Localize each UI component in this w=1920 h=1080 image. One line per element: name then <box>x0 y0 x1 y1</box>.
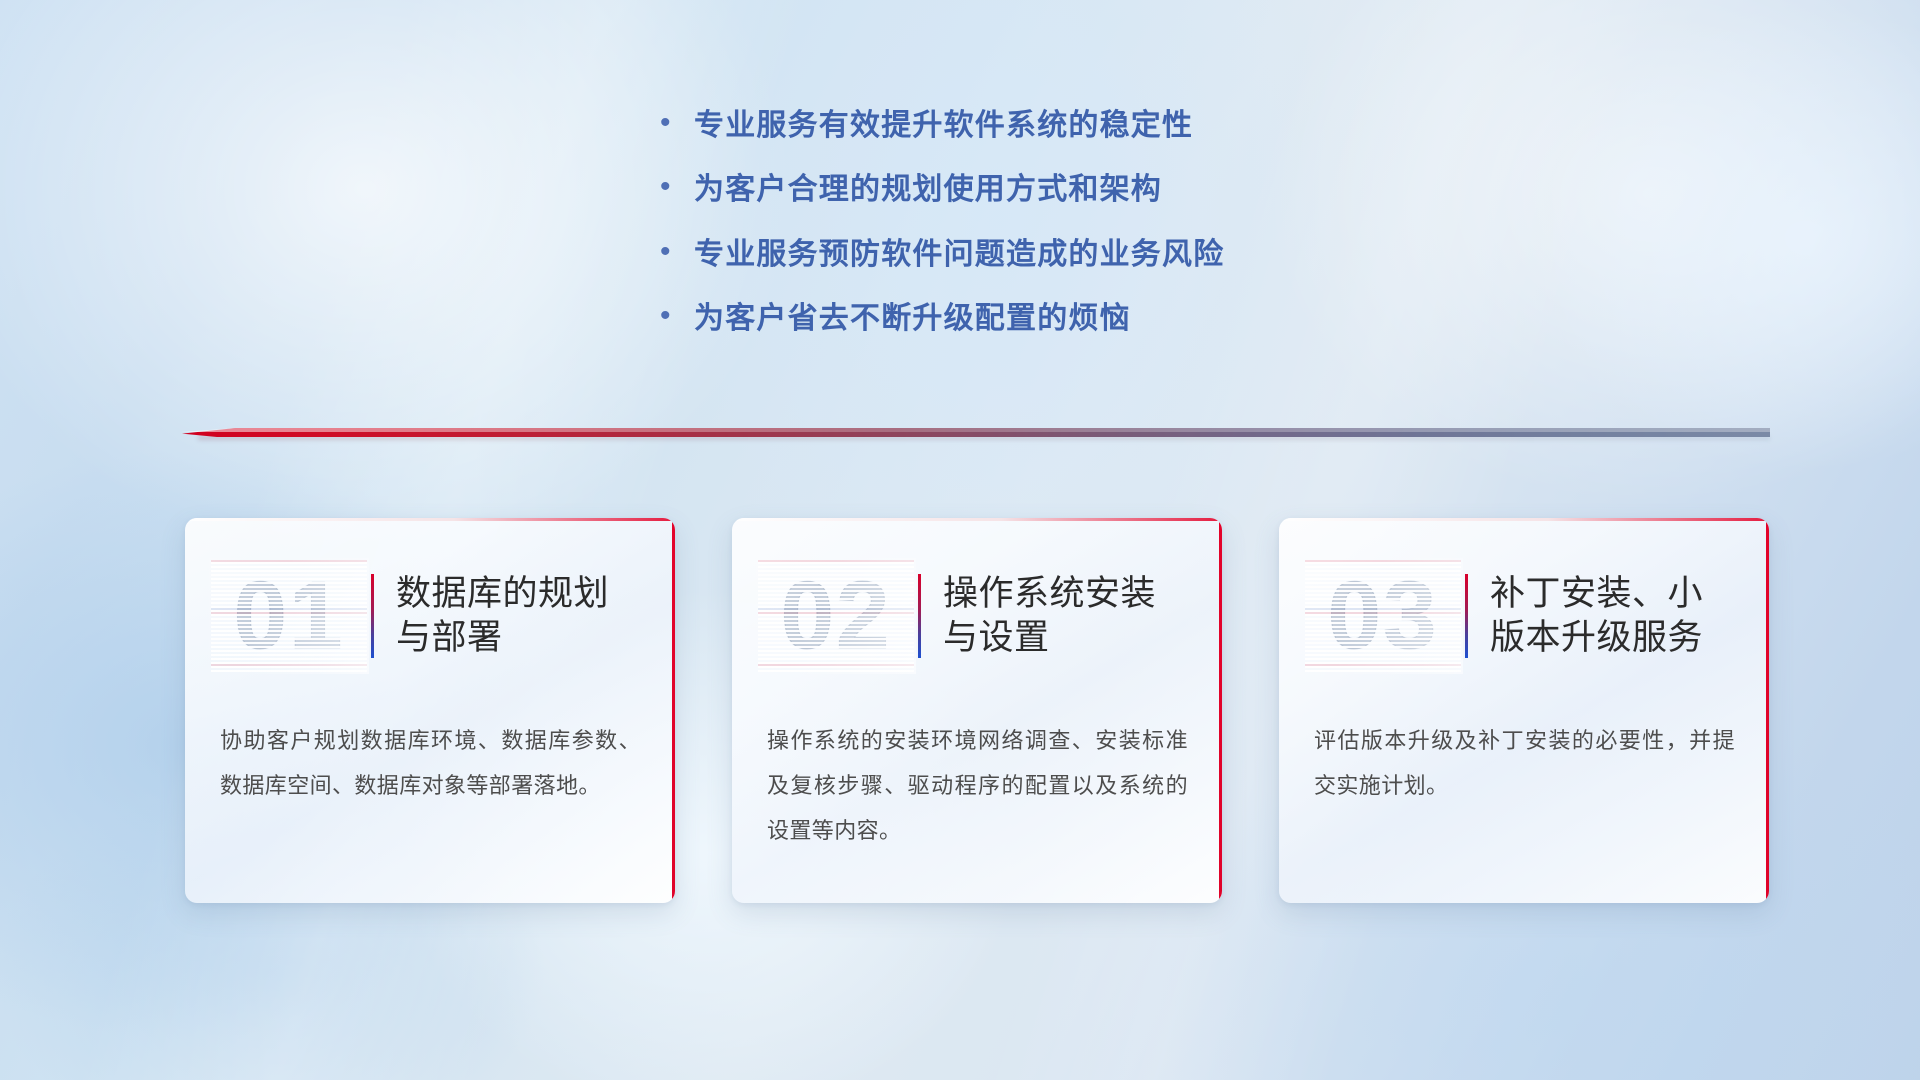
bullet-item: • 为客户省去不断升级配置的烦恼 <box>660 301 1224 336</box>
card-body-text: 协助客户规划数据库环境、数据库参数、数据库空间、数据库对象等部署落地。 <box>220 718 641 808</box>
bullet-text: 为客户合理的规划使用方式和架构 <box>694 172 1162 207</box>
card-number: 01 <box>215 564 363 668</box>
card-header: 02 操作系统安装 与设置 <box>732 518 1222 714</box>
service-card-01[interactable]: 01 数据库的规划 与部署 协助客户规划数据库环境、数据库参数、数据库空间、数据… <box>185 518 675 903</box>
bullet-item: • 专业服务预防软件问题造成的业务风险 <box>660 237 1224 272</box>
section-divider <box>182 424 1770 440</box>
bullet-dot-icon: • <box>660 172 694 202</box>
card-title-divider <box>371 574 374 658</box>
card-title: 补丁安装、小 版本升级服务 <box>1490 572 1703 660</box>
card-number-text: 03 <box>1328 562 1439 669</box>
bullet-dot-icon: • <box>660 301 694 331</box>
benefits-bullet-list: • 专业服务有效提升软件系统的稳定性 • 为客户合理的规划使用方式和架构 • 专… <box>660 108 1224 337</box>
bullet-item: • 专业服务有效提升软件系统的稳定性 <box>660 108 1224 143</box>
bullet-item: • 为客户合理的规划使用方式和架构 <box>660 172 1224 207</box>
card-title: 数据库的规划 与部署 <box>396 572 609 660</box>
card-body-text: 评估版本升级及补丁安装的必要性，并提交实施计划。 <box>1314 718 1735 808</box>
divider-highlight <box>182 428 1770 432</box>
card-body-text: 操作系统的安装环境网络调查、安装标准及复核步骤、驱动程序的配置以及系统的设置等内… <box>767 718 1188 853</box>
bullet-text: 为客户省去不断升级配置的烦恼 <box>694 301 1131 336</box>
card-title-divider <box>918 574 921 658</box>
card-title-divider <box>1465 574 1468 658</box>
service-card-02[interactable]: 02 操作系统安装 与设置 操作系统的安装环境网络调查、安装标准及复核步骤、驱动… <box>732 518 1222 903</box>
card-number: 02 <box>762 564 910 668</box>
card-number-text: 01 <box>234 562 345 669</box>
bullet-dot-icon: • <box>660 108 694 138</box>
card-title: 操作系统安装 与设置 <box>943 572 1156 660</box>
service-card-03[interactable]: 03 补丁安装、小 版本升级服务 评估版本升级及补丁安装的必要性，并提交实施计划… <box>1279 518 1769 903</box>
bullet-text: 专业服务预防软件问题造成的业务风险 <box>694 237 1224 272</box>
card-header: 01 数据库的规划 与部署 <box>185 518 675 714</box>
service-card-list: 01 数据库的规划 与部署 协助客户规划数据库环境、数据库参数、数据库空间、数据… <box>185 518 1769 903</box>
bullet-text: 专业服务有效提升软件系统的稳定性 <box>694 108 1193 143</box>
bullet-dot-icon: • <box>660 237 694 267</box>
card-number-text: 02 <box>781 562 892 669</box>
card-number: 03 <box>1309 564 1457 668</box>
card-header: 03 补丁安装、小 版本升级服务 <box>1279 518 1769 714</box>
